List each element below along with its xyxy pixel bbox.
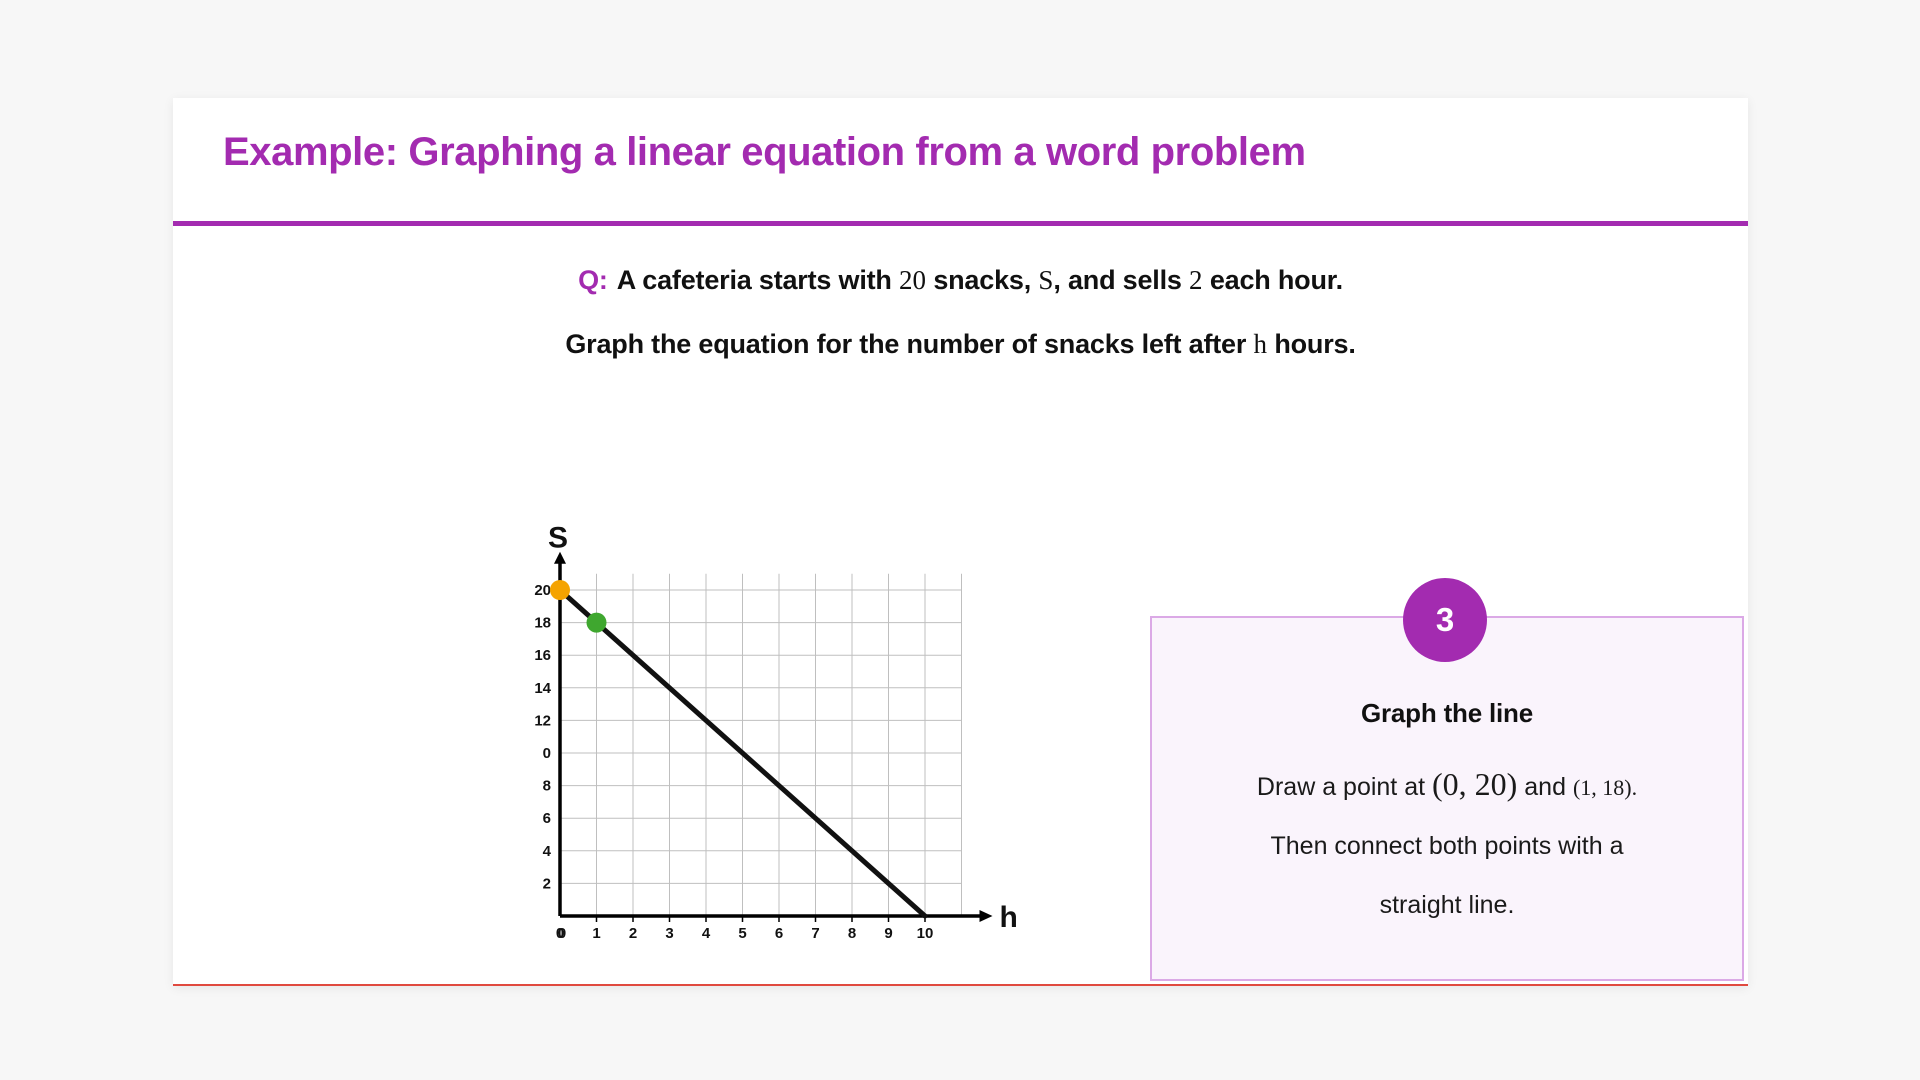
x-tick-label: 6: [775, 925, 783, 942]
x-tick-label: 5: [738, 925, 746, 942]
slide-card: Example: Graphing a linear equation from…: [173, 98, 1748, 986]
coordinate-graph: 0123456789100246801214161820 S h: [518, 518, 1058, 978]
y-tick-label: 16: [534, 647, 551, 664]
slide-header: Example: Graphing a linear equation from…: [173, 98, 1748, 225]
callout-text-3: .: [1632, 775, 1638, 800]
question-line-2: Graph the equation for the number of sna…: [173, 312, 1748, 376]
step-number-badge: 3: [1403, 578, 1487, 662]
question-line1-math-2: 2: [1189, 265, 1203, 295]
step-callout-card: Graph the line Draw a point at (0, 20) a…: [1150, 616, 1744, 981]
y-tick-label: 4: [543, 843, 552, 860]
question-line1-math-S: S: [1038, 265, 1053, 295]
x-tick-label: 4: [702, 925, 711, 942]
callout-heading: Graph the line: [1182, 698, 1712, 729]
question-line2-math-h: h: [1254, 329, 1268, 359]
callout-body-line-2: Then connect both points with a: [1182, 817, 1712, 876]
page-title: Example: Graphing a linear equation from…: [223, 130, 1306, 175]
y-tick-label: 6: [543, 810, 551, 827]
y-tick-label: 18: [534, 615, 551, 632]
x-tick-label: 7: [811, 925, 819, 942]
tick-labels: 0123456789100246801214161820: [534, 582, 933, 942]
x-tick-label: 9: [884, 925, 892, 942]
y-tick-label: 0: [543, 745, 551, 762]
question-line1-text1: A cafeteria starts with: [617, 265, 892, 295]
y-tick-label: 8: [543, 778, 551, 795]
callout-math-point-a: (0, 20): [1432, 766, 1517, 802]
x-tick-label: 2: [629, 925, 637, 942]
y-tick-label: 14: [534, 680, 551, 697]
x-tick-label: 1: [592, 925, 600, 942]
question-line-1: Q:A cafeteria starts with 20 snacks, S, …: [173, 248, 1748, 312]
y-axis-label: S: [548, 522, 568, 555]
header-divider: [173, 221, 1748, 226]
question-line2-text1: Graph the equation for the number of sna…: [565, 329, 1246, 359]
question-line1-text2: snacks,: [933, 265, 1031, 295]
y-tick-label: 2: [543, 875, 551, 892]
y-tick-label: 12: [534, 712, 551, 729]
question-line1-text3: , and sells: [1053, 265, 1181, 295]
callout-content: Graph the line Draw a point at (0, 20) a…: [1152, 698, 1742, 935]
y-tick-label: 0: [558, 925, 566, 942]
callout-text-1: Draw a point at: [1257, 773, 1425, 801]
callout-body: Draw a point at (0, 20) and (1, 18). The…: [1182, 755, 1712, 935]
axis-lines: [554, 552, 993, 922]
callout-text-2: and: [1524, 773, 1566, 801]
callout-body-line-1: Draw a point at (0, 20) and (1, 18).: [1182, 755, 1712, 817]
x-tick-label: 10: [917, 925, 934, 942]
question-line1-text4: each hour.: [1210, 265, 1343, 295]
x-tick-label: 3: [665, 925, 673, 942]
question-label: Q:: [578, 265, 608, 295]
callout-math-point-b: (1, 18): [1573, 775, 1632, 800]
x-tick-label: 8: [848, 925, 856, 942]
graph-svg: 0123456789100246801214161820 S h: [518, 518, 1058, 978]
question-block: Q:A cafeteria starts with 20 snacks, S, …: [173, 248, 1748, 376]
x-axis-label: h: [1000, 901, 1018, 934]
question-line2-text2: hours.: [1274, 329, 1355, 359]
grid-lines: [560, 574, 962, 916]
screenshot-root: Example: Graphing a linear equation from…: [0, 0, 1920, 1080]
callout-body-line-3: straight line.: [1182, 876, 1712, 935]
question-line1-math-20: 20: [899, 265, 926, 295]
y-tick-label: 20: [534, 582, 551, 599]
